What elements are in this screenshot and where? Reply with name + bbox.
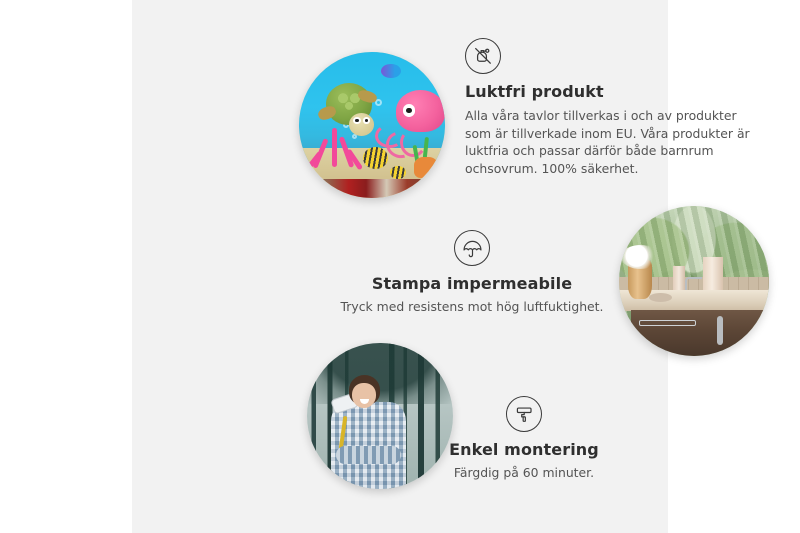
page-root: Luktfri produkt Alla våra tavlor tillver… — [0, 0, 800, 533]
no-fragrance-spray-icon — [465, 38, 501, 74]
image-underwater-cartoon-mural — [299, 52, 445, 198]
turtle-eye — [363, 117, 371, 124]
content-panel: Luktfri produkt Alla våra tavlor tillver… — [132, 0, 668, 533]
turtle-eye — [353, 117, 361, 124]
umbrella-icon — [454, 230, 490, 266]
feature-odourless: Luktfri produkt Alla våra tavlor tillver… — [465, 38, 765, 177]
yellow-fish — [363, 147, 388, 169]
feature-waterproof: Stampa impermeabile Tryck med resistens … — [322, 230, 622, 316]
feature-description: Tryck med resistens mot hög luftfuktighe… — [322, 298, 622, 316]
coral — [311, 128, 361, 178]
soap-dish — [649, 293, 672, 302]
feature-title: Stampa impermeabile — [322, 274, 622, 293]
white-flowers — [621, 245, 660, 269]
feature-description: Alla våra tavlor tillverkas i och av pro… — [465, 107, 753, 177]
octopus-head — [396, 90, 445, 132]
feature-description: Färgdig på 60 minuter. — [394, 464, 654, 482]
feature-title: Luktfri produkt — [465, 82, 765, 101]
yellow-fish — [390, 166, 406, 179]
foreground-strip — [299, 179, 445, 198]
soap-bottle — [673, 266, 685, 292]
paint-roller-icon — [506, 396, 542, 432]
feature-title: Enkel montering — [394, 440, 654, 459]
crossed-arms — [336, 446, 401, 464]
faucet — [685, 277, 702, 291]
octopus — [378, 90, 442, 157]
octopus-eye — [403, 104, 416, 116]
soap-dispenser — [703, 257, 723, 293]
feature-easy-installation: Enkel montering Färgdig på 60 minuter. — [394, 396, 654, 482]
starfish — [414, 157, 437, 177]
wooden-vanity — [631, 310, 769, 357]
image-bathroom-botanical-wallpaper — [619, 206, 769, 356]
